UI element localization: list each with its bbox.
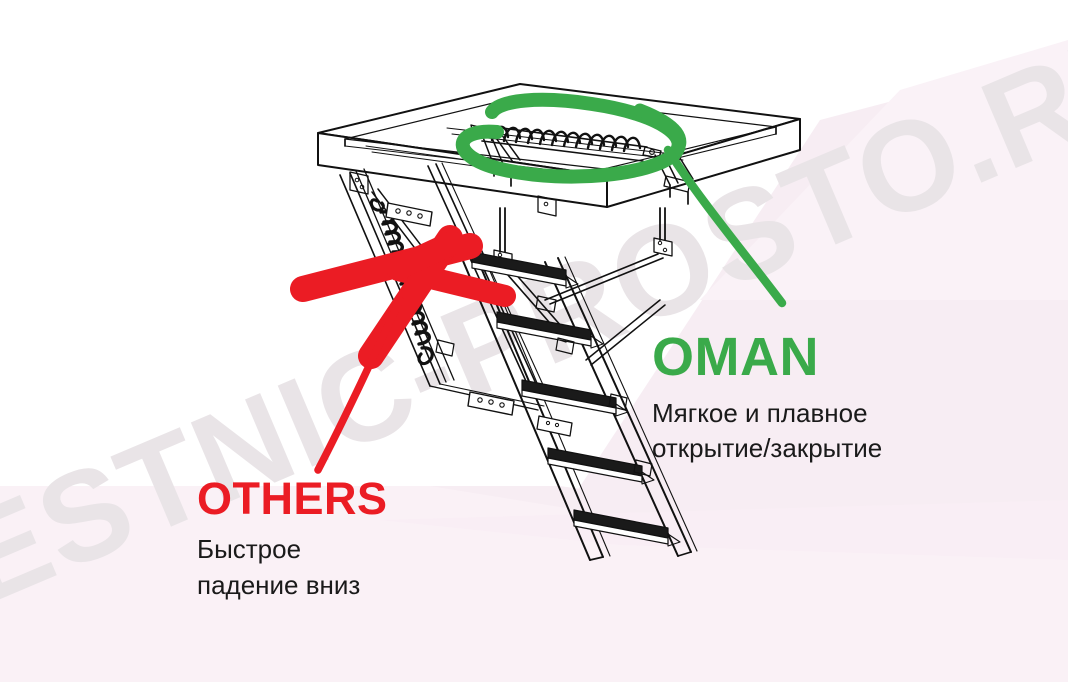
oman-title: OMAN	[652, 330, 882, 384]
others-description-line1: Быстрое	[197, 532, 388, 568]
others-description-line2: падение вниз	[197, 568, 388, 604]
callout-oman: OMAN Мягкое и плавное открытие/закрытие	[652, 330, 882, 467]
oman-description-line2: открытие/закрытие	[652, 431, 882, 466]
green-pointer-line	[668, 150, 782, 303]
oman-description-line1: Мягкое и плавное	[652, 396, 882, 431]
annotation-layer	[0, 0, 1068, 682]
red-cross-mark	[303, 238, 505, 356]
others-title: OTHERS	[197, 476, 388, 521]
callout-others: OTHERS Быстрое падение вниз	[197, 476, 388, 604]
red-arrow-pointer	[318, 300, 400, 470]
green-circle-highlight	[463, 100, 680, 177]
illustration-canvas: LESTNIC-PROSTO.RU	[0, 0, 1068, 682]
